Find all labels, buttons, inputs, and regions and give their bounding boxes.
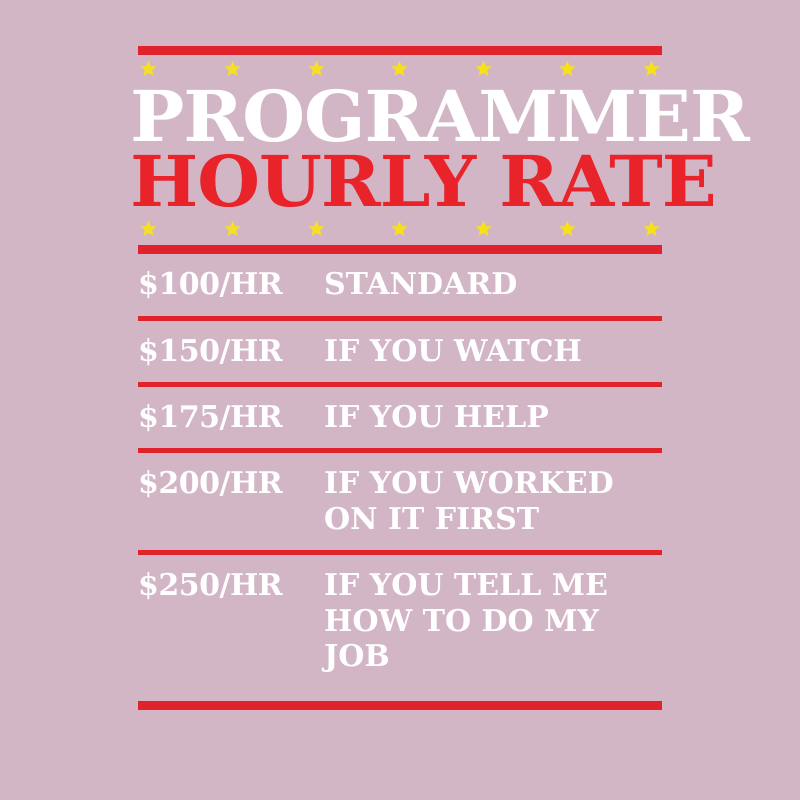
- star-icon: [643, 60, 660, 77]
- title-line-secondary: HOURLY RATE: [130, 149, 670, 214]
- rate-price: $200/HR: [138, 466, 324, 501]
- rate-row: $250/HR IF YOU TELL ME HOW TO DO MY JOB: [138, 555, 662, 687]
- bottom-divider-bar: [138, 701, 662, 710]
- rate-label: IF YOU WORKED ON IT FIRST: [324, 466, 662, 537]
- rate-price: $175/HR: [138, 400, 324, 435]
- star-icon: [224, 60, 241, 77]
- rate-row: $200/HR IF YOU WORKED ON IT FIRST: [138, 453, 662, 550]
- poster-content: PROGRAMMER HOURLY RATE $100/HR STANDARD …: [138, 46, 662, 710]
- rate-row: $175/HR IF YOU HELP: [138, 387, 662, 448]
- bottom-spacer: [138, 687, 662, 701]
- star-icon: [559, 60, 576, 77]
- star-icon: [140, 60, 157, 77]
- star-icon: [475, 60, 492, 77]
- rate-label: IF YOU HELP: [324, 400, 662, 435]
- rate-row: $100/HR STANDARD: [138, 254, 662, 315]
- rate-list: $100/HR STANDARD $150/HR IF YOU WATCH $1…: [138, 254, 662, 687]
- poster-canvas: PROGRAMMER HOURLY RATE $100/HR STANDARD …: [0, 0, 800, 800]
- rate-row: $150/HR IF YOU WATCH: [138, 321, 662, 382]
- rate-price: $250/HR: [138, 568, 324, 603]
- rate-price: $150/HR: [138, 334, 324, 369]
- top-divider-bar: [138, 46, 662, 55]
- title-underline-bar: [138, 245, 662, 254]
- rate-label: IF YOU WATCH: [324, 334, 662, 369]
- rate-label: IF YOU TELL ME HOW TO DO MY JOB: [324, 568, 662, 674]
- rate-label: STANDARD: [324, 267, 662, 302]
- rate-price: $100/HR: [138, 267, 324, 302]
- star-icon: [308, 60, 325, 77]
- star-icon: [391, 60, 408, 77]
- poster-title: PROGRAMMER HOURLY RATE: [138, 84, 662, 214]
